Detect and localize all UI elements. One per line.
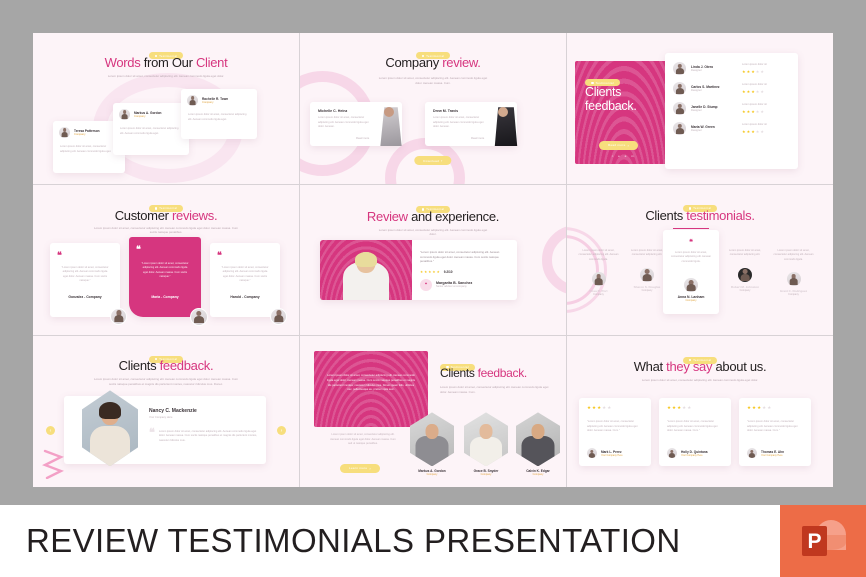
person-company: Company bbox=[202, 101, 228, 104]
slide-thumbnail-clients-feedback-team[interactable]: Lorem ipsum dolor sit amet, consectetur … bbox=[300, 336, 566, 487]
read-more-link[interactable]: Read more bbox=[471, 137, 484, 140]
slide-title: Customer reviews. bbox=[33, 208, 299, 223]
panel-text: Lorem ipsum dolor sit amet, consectetur … bbox=[327, 374, 415, 393]
team-member[interactable]: Markus A. Gordon Company bbox=[410, 412, 454, 476]
star-rating: ★★★★★ bbox=[742, 70, 790, 74]
card-body: Lorem ipsum dolor sit amet, consectetur … bbox=[181, 106, 257, 122]
slide-thumbnail-clients-feedback-single[interactable]: Testimonial Clients feedback. Lorem ipsu… bbox=[33, 336, 299, 487]
review-card[interactable]: ❝ "Lorem ipsum dolor sit amet, consectet… bbox=[50, 243, 120, 317]
rating-score: 9.2/10 bbox=[444, 270, 453, 274]
star-rating: ★★★★★ bbox=[667, 406, 691, 411]
person-company: Company bbox=[74, 133, 100, 136]
person-name: Michelle C. Heinz bbox=[318, 109, 347, 113]
pink-panel: Testimonial Clients feedback. Read more … bbox=[575, 61, 673, 164]
person-photo-body bbox=[90, 426, 130, 466]
star-rating: ★★★★★ bbox=[587, 406, 611, 411]
quote-icon: ❝ bbox=[217, 252, 222, 258]
star-rating: ★★★★★ bbox=[742, 130, 790, 134]
person-photo bbox=[410, 412, 454, 466]
avatar bbox=[673, 102, 686, 115]
nav-next-button[interactable]: › bbox=[277, 426, 286, 435]
person-company: Company bbox=[464, 473, 508, 476]
nav-prev-button[interactable]: ‹ bbox=[46, 426, 55, 435]
left-text: Lorem ipsum dolor sit amet, consectetur … bbox=[330, 433, 396, 447]
slide-subtitle: Lorem ipsum dolor sit amet, consectetur … bbox=[101, 74, 231, 79]
slide-subtitle: Lorem ipsum dolor sit amet, consectetur … bbox=[440, 385, 550, 394]
slide-thumbnail-what-they-say[interactable]: Testimonial What they say about us. Lore… bbox=[567, 336, 833, 487]
slide-subtitle: Lorem ipsum dolor sit amet, consectetur … bbox=[94, 226, 239, 235]
card-caption: Maria - Company bbox=[129, 295, 201, 299]
slide-title: Clients feedback. bbox=[33, 358, 299, 373]
review-card[interactable]: ★★★★★ "Lorem ipsum dolor sit amet, conse… bbox=[659, 398, 731, 466]
card-body: Lorem ipsum dolor sit amet, consectetur … bbox=[433, 116, 485, 130]
team-member[interactable]: Grace B. Snyder Company bbox=[464, 412, 508, 476]
star-rating: ★★★★★ bbox=[742, 90, 790, 94]
person-photo bbox=[464, 412, 508, 466]
row-note: Lorem ipsum dolor sit bbox=[742, 103, 790, 108]
avatar bbox=[747, 448, 757, 458]
avatar bbox=[787, 272, 801, 286]
slide-title: Company review. bbox=[300, 55, 566, 70]
experience-card[interactable]: "Lorem ipsum dolor sit amet, consectetur… bbox=[320, 240, 517, 300]
avatar bbox=[738, 268, 752, 282]
testimonial-card[interactable]: Rachelle R. Town Company Lorem ipsum dol… bbox=[181, 89, 257, 139]
person-photo bbox=[82, 390, 138, 466]
review-card[interactable]: ★★★★★ "Lorem ipsum dolor sit amet, conse… bbox=[739, 398, 811, 466]
person-photo-panel bbox=[320, 240, 412, 300]
card-body: Lorem ipsum dolor sit amet, consectetur … bbox=[766, 241, 821, 263]
person-company: Company bbox=[719, 289, 771, 292]
slide-title: Clients feedback. bbox=[440, 366, 527, 380]
card-body: "Lorem ipsum dolor sit amet, consectetur… bbox=[747, 420, 803, 434]
person-company: Designer bbox=[691, 89, 737, 92]
avatar bbox=[190, 308, 208, 326]
card-body: "Lorem ipsum dolor sit amet, consectetur… bbox=[221, 266, 269, 284]
slide-title: What they say about us. bbox=[567, 359, 833, 374]
person-company: Your Company Here bbox=[681, 454, 708, 457]
testimonial-card[interactable]: Lorem ipsum dolor sit amet, consectetur … bbox=[719, 241, 771, 305]
star-rating: ★★★★★ bbox=[742, 110, 790, 114]
person-company: Your Company Here bbox=[761, 454, 784, 457]
avatar bbox=[673, 82, 686, 95]
powerpoint-letter: P bbox=[802, 526, 827, 556]
card-body: "Lorem ipsum dolor sit amet, consectetur… bbox=[61, 266, 109, 284]
slide-subtitle: Lorem ipsum dolor sit amet, consectetur … bbox=[378, 76, 488, 85]
feedback-row[interactable]: Linda J. Otero Designer Lorem ipsum dolo… bbox=[673, 62, 790, 75]
card-body: Lorem ipsum dolor sit amet, consectetur … bbox=[663, 245, 719, 265]
card-caption: Gonzalez - Company bbox=[50, 295, 120, 299]
person-company: Designer bbox=[691, 129, 737, 132]
cta-label: Learn more bbox=[349, 466, 367, 470]
slide-title: Review and experience. bbox=[300, 209, 566, 224]
feedback-row[interactable]: Maria W. Green Designer Lorem ipsum dolo… bbox=[673, 122, 790, 135]
avatar bbox=[592, 272, 606, 286]
review-card[interactable]: ❝ "Lorem ipsum dolor sit amet, consectet… bbox=[210, 243, 280, 317]
person-company: Company bbox=[516, 473, 560, 476]
panel-title-line1: Clients bbox=[585, 85, 637, 99]
product-title: REVIEW TESTIMONIALS PRESENTATION bbox=[26, 522, 681, 560]
row-note: Lorem ipsum dolor sit bbox=[742, 63, 790, 68]
person-photo-hair bbox=[355, 252, 377, 267]
row-note: Lorem ipsum dolor sit bbox=[742, 83, 790, 88]
panel-title-line2: feedback. bbox=[585, 99, 637, 113]
testimonial-card-featured[interactable]: ❝ Lorem ipsum dolor sit amet, consectetu… bbox=[663, 230, 719, 314]
panel-read-more-button[interactable]: Read more › bbox=[599, 141, 638, 150]
person-company: Company bbox=[134, 115, 162, 118]
avatar bbox=[270, 308, 287, 325]
person-photo bbox=[516, 412, 560, 466]
person-name: Drew M. Travis bbox=[433, 109, 458, 113]
slide-subtitle: Lorem ipsum dolor sit amet, consectetur … bbox=[378, 228, 488, 237]
slide-subtitle: Lorem ipsum dolor sit amet, consectetur … bbox=[91, 377, 241, 386]
accent-bar bbox=[673, 228, 709, 230]
feedback-row[interactable]: Carlos S. Martinez Designer Lorem ipsum … bbox=[673, 82, 790, 95]
feedback-card[interactable]: Nancy C. Mackenzie Your Company Here ❝ L… bbox=[64, 396, 266, 464]
download-label: Download bbox=[423, 159, 439, 163]
card-body: "Lorem ipsum dolor sit amet, consectetur… bbox=[140, 262, 190, 280]
card-body: "Lorem ipsum dolor sit amet, consectetur… bbox=[667, 420, 723, 434]
person-name: Nancy C. Mackenzie bbox=[149, 408, 257, 414]
badge-dot-icon bbox=[591, 82, 594, 85]
review-card[interactable]: Drew M. Travis Lorem ipsum dolor sit ame… bbox=[425, 102, 517, 146]
review-card-highlighted[interactable]: ❝ "Lorem ipsum dolor sit amet, consectet… bbox=[129, 237, 201, 317]
feedback-row[interactable]: Janelle D. Stump Designer Lorem ipsum do… bbox=[673, 102, 790, 115]
person-company: Designer bbox=[691, 69, 737, 72]
card-body: Lorem ipsum dolor sit amet, consectetur … bbox=[113, 120, 189, 136]
avatar bbox=[119, 109, 130, 120]
avatar bbox=[667, 448, 677, 458]
avatar bbox=[110, 308, 127, 325]
testimonial-card[interactable]: Lorem ipsum dolor sit amet, consectetur … bbox=[571, 241, 626, 305]
avatar bbox=[59, 127, 70, 138]
person-company: Your Company Here bbox=[601, 454, 623, 457]
quote-badge-icon: ❝ bbox=[420, 279, 432, 291]
arrow-right-icon: › bbox=[369, 466, 371, 471]
download-button[interactable]: Download › bbox=[414, 156, 451, 165]
avatar bbox=[673, 62, 686, 75]
squiggle-decoration-icon bbox=[41, 449, 67, 479]
testimonial-card[interactable]: Lorem ipsum dolor sit amet, consectetur … bbox=[766, 241, 821, 305]
slide-thumbnail-clients-feedback-list[interactable]: Testimonial Clients feedback. Read more … bbox=[567, 33, 833, 184]
card-body: Lorem ipsum dolor sit amet, consectetur … bbox=[318, 116, 370, 130]
feedback-list-card[interactable]: Linda J. Otero Designer Lorem ipsum dolo… bbox=[665, 53, 798, 169]
quote-icon: ❝ bbox=[149, 430, 155, 444]
slide-thumbnail-clients-testimonials[interactable]: Testimonial Clients testimonials. Lorem … bbox=[567, 185, 833, 336]
person-photo-head bbox=[384, 107, 394, 117]
avatar bbox=[673, 122, 686, 135]
quote-icon: ❝ bbox=[136, 246, 141, 252]
arrow-right-icon: › bbox=[441, 158, 443, 163]
person-company: Designer bbox=[691, 109, 737, 112]
team-member[interactable]: Calvin K. Edgar Company bbox=[516, 412, 560, 476]
card-caption: Harold - Company bbox=[210, 295, 280, 299]
person-company: Company bbox=[766, 293, 821, 296]
slide-thumbnail-customer-reviews[interactable]: Testimonial Customer reviews. Lorem ipsu… bbox=[33, 185, 299, 336]
powerpoint-icon: P bbox=[780, 505, 866, 577]
slide-thumbnail-review-and-experience[interactable]: Testimonial Review and experience. Lorem… bbox=[300, 185, 566, 336]
avatar bbox=[684, 278, 698, 292]
person-company: Company bbox=[410, 473, 454, 476]
person-role: Senior advisor at company bbox=[436, 285, 472, 290]
card-body: Lorem ipsum dolor sit amet, consectetur … bbox=[571, 241, 626, 263]
person-photo-hair bbox=[99, 402, 121, 419]
panel-footer-text: t e a m bbox=[575, 154, 673, 158]
slide-title: Words from Our Client bbox=[33, 55, 299, 70]
row-note: Lorem ipsum dolor sit bbox=[742, 123, 790, 128]
slide-thumbnail-words-from-our-client[interactable]: Testimonial Words from Our Client Lorem … bbox=[33, 33, 299, 184]
learn-more-button[interactable]: Learn more › bbox=[340, 464, 380, 473]
person-role: Your Company Here bbox=[149, 416, 257, 421]
quote-text: "Lorem ipsum dolor sit amet, consectetur… bbox=[420, 250, 508, 265]
review-card[interactable]: Michelle C. Heinz Lorem ipsum dolor sit … bbox=[310, 102, 402, 146]
star-rating: ★★★★★ bbox=[747, 406, 771, 411]
avatar bbox=[587, 448, 597, 458]
star-rating: ★★★★★ bbox=[420, 271, 440, 275]
slide-thumbnail-grid: Testimonial Words from Our Client Lorem … bbox=[33, 33, 833, 487]
card-body: Lorem ipsum dolor sit amet, consectetur … bbox=[719, 241, 771, 258]
person-company: Company bbox=[571, 293, 626, 296]
panel-button-label: Read more bbox=[608, 143, 626, 147]
avatar bbox=[640, 268, 654, 282]
review-card[interactable]: ★★★★★ "Lorem ipsum dolor sit amet, conse… bbox=[579, 398, 651, 466]
bottom-title-bar: REVIEW TESTIMONIALS PRESENTATION P bbox=[0, 505, 866, 577]
person-company: Company bbox=[663, 299, 719, 302]
card-body: "Lorem ipsum dolor sit amet, consectetur… bbox=[587, 420, 643, 434]
quote-icon: ❝ bbox=[57, 252, 62, 258]
read-more-link[interactable]: Read more bbox=[356, 137, 369, 140]
slide-subtitle: Lorem ipsum dolor sit amet, consectetur … bbox=[640, 378, 760, 383]
slide-title: Clients testimonials. bbox=[567, 208, 833, 223]
card-body: Lorem ipsum dolor sit amet, consectetur … bbox=[159, 430, 257, 444]
slide-thumbnail-company-review[interactable]: Testimonial Company review. Lorem ipsum … bbox=[300, 33, 566, 184]
testimonial-card[interactable]: Markus A. Gordon Company Lorem ipsum dol… bbox=[113, 103, 189, 155]
person-photo-head bbox=[498, 107, 508, 117]
avatar bbox=[187, 95, 198, 106]
arrow-right-icon: › bbox=[628, 143, 630, 148]
